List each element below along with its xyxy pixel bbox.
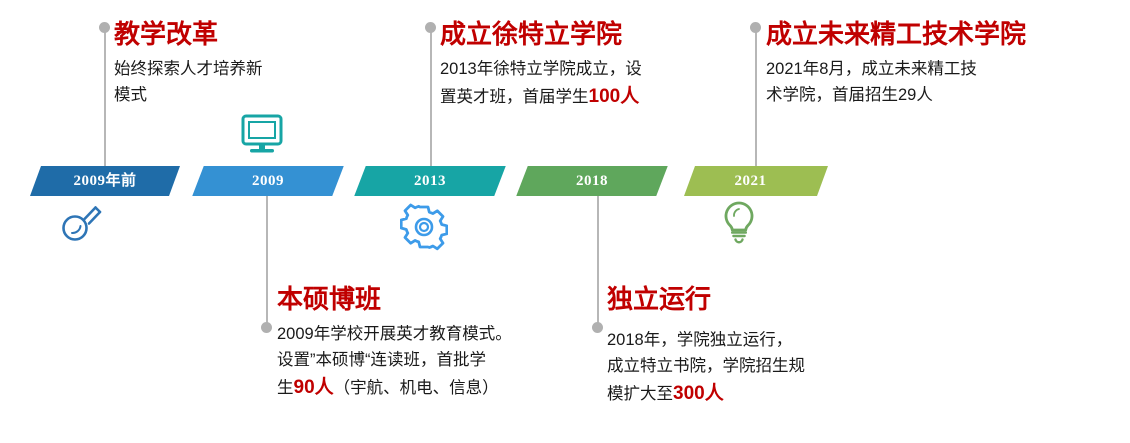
block-title: 独立运行 (607, 285, 887, 315)
block-body-line: 模式 (114, 86, 147, 104)
block-body-highlight: 90人 (294, 377, 334, 398)
block-body-line: 设置”本硕博“连读班，首批学 (277, 351, 486, 369)
connector-line-bachelor-master-doctor (266, 196, 268, 328)
block-independent-operation: 独立运行 2018年，学院独立运行， 成立特立书院，学院招生规 模扩大至300人 (607, 285, 887, 409)
block-body-line: 2018年，学院独立运行， (607, 331, 792, 349)
block-body-highlight: 300人 (673, 383, 724, 404)
gear-icon (400, 203, 448, 251)
block-body: 始终探索人才培养新 模式 (114, 56, 334, 108)
block-body: 2021年8月，成立未来精工技 术学院，首届招生29人 (766, 56, 1066, 108)
block-body-line: 成立特立书院，学院招生规 (607, 357, 805, 375)
connector-line-independent-operation (597, 196, 599, 328)
magnifier-icon (58, 200, 104, 246)
timeline-segment-2009[interactable]: 2009 (192, 166, 344, 196)
timeline-segment-2018[interactable]: 2018 (516, 166, 668, 196)
monitor-icon (239, 113, 285, 157)
block-title: 教学改革 (114, 20, 334, 50)
block-title: 本硕博班 (277, 285, 577, 315)
block-future-precision-college: 成立未来精工技术学院 2021年8月，成立未来精工技 术学院，首届招生29人 (766, 20, 1066, 108)
timeline-infographic: 2009年前 2009 2013 2018 2021 (0, 0, 1130, 443)
timeline-segment-label: 2013 (360, 166, 500, 196)
block-body-line: 模扩大至 (607, 385, 673, 403)
timeline-segment-label: 2009 (198, 166, 338, 196)
block-teaching-reform: 教学改革 始终探索人才培养新 模式 (114, 20, 334, 108)
block-body-line: 2013年徐特立学院成立，设 (440, 60, 642, 78)
block-bachelor-master-doctor: 本硕博班 2009年学校开展英才教育模式。 设置”本硕博“连读班，首批学 生90… (277, 285, 577, 403)
connector-dot-xuteli-college (425, 22, 436, 33)
connector-dot-future-precision-college (750, 22, 761, 33)
block-body-line: 术学院，首届招生29人 (766, 86, 933, 104)
timeline-segment-label: 2009年前 (30, 166, 180, 196)
block-title: 成立未来精工技术学院 (766, 20, 1066, 50)
block-body-line: 2021年8月，成立未来精工技 (766, 60, 977, 78)
connector-dot-teaching-reform (99, 22, 110, 33)
block-body-highlight: 100人 (589, 86, 640, 107)
block-body: 2018年，学院独立运行， 成立特立书院，学院招生规 模扩大至300人 (607, 327, 887, 409)
connector-dot-bachelor-master-doctor (261, 322, 272, 333)
block-body-line: 置英才班，首届学生 (440, 88, 589, 106)
timeline-segment-label: 2021 (684, 166, 817, 196)
timeline-segment-2021[interactable]: 2021 (684, 166, 828, 196)
block-body-line: 生 (277, 379, 294, 397)
timeline-segment-2009-before[interactable]: 2009年前 (30, 166, 180, 196)
timeline-segment-label: 2018 (522, 166, 662, 196)
connector-line-xuteli-college (430, 28, 432, 168)
connector-dot-independent-operation (592, 322, 603, 333)
block-body: 2009年学校开展英才教育模式。 设置”本硕博“连读班，首批学 生90人（宇航、… (277, 321, 577, 403)
block-body: 2013年徐特立学院成立，设 置英才班，首届学生100人 (440, 56, 715, 112)
block-body-line: 始终探索人才培养新 (114, 60, 263, 78)
connector-line-future-precision-college (755, 28, 757, 168)
block-title: 成立徐特立学院 (440, 20, 715, 50)
connector-line-teaching-reform (104, 28, 106, 168)
block-body-line: （宇航、机电、信息） (334, 379, 499, 397)
lightbulb-icon (718, 200, 760, 246)
timeline-segment-2013[interactable]: 2013 (354, 166, 506, 196)
block-body-line: 2009年学校开展英才教育模式。 (277, 325, 512, 343)
block-xuteli-college: 成立徐特立学院 2013年徐特立学院成立，设 置英才班，首届学生100人 (440, 20, 715, 112)
